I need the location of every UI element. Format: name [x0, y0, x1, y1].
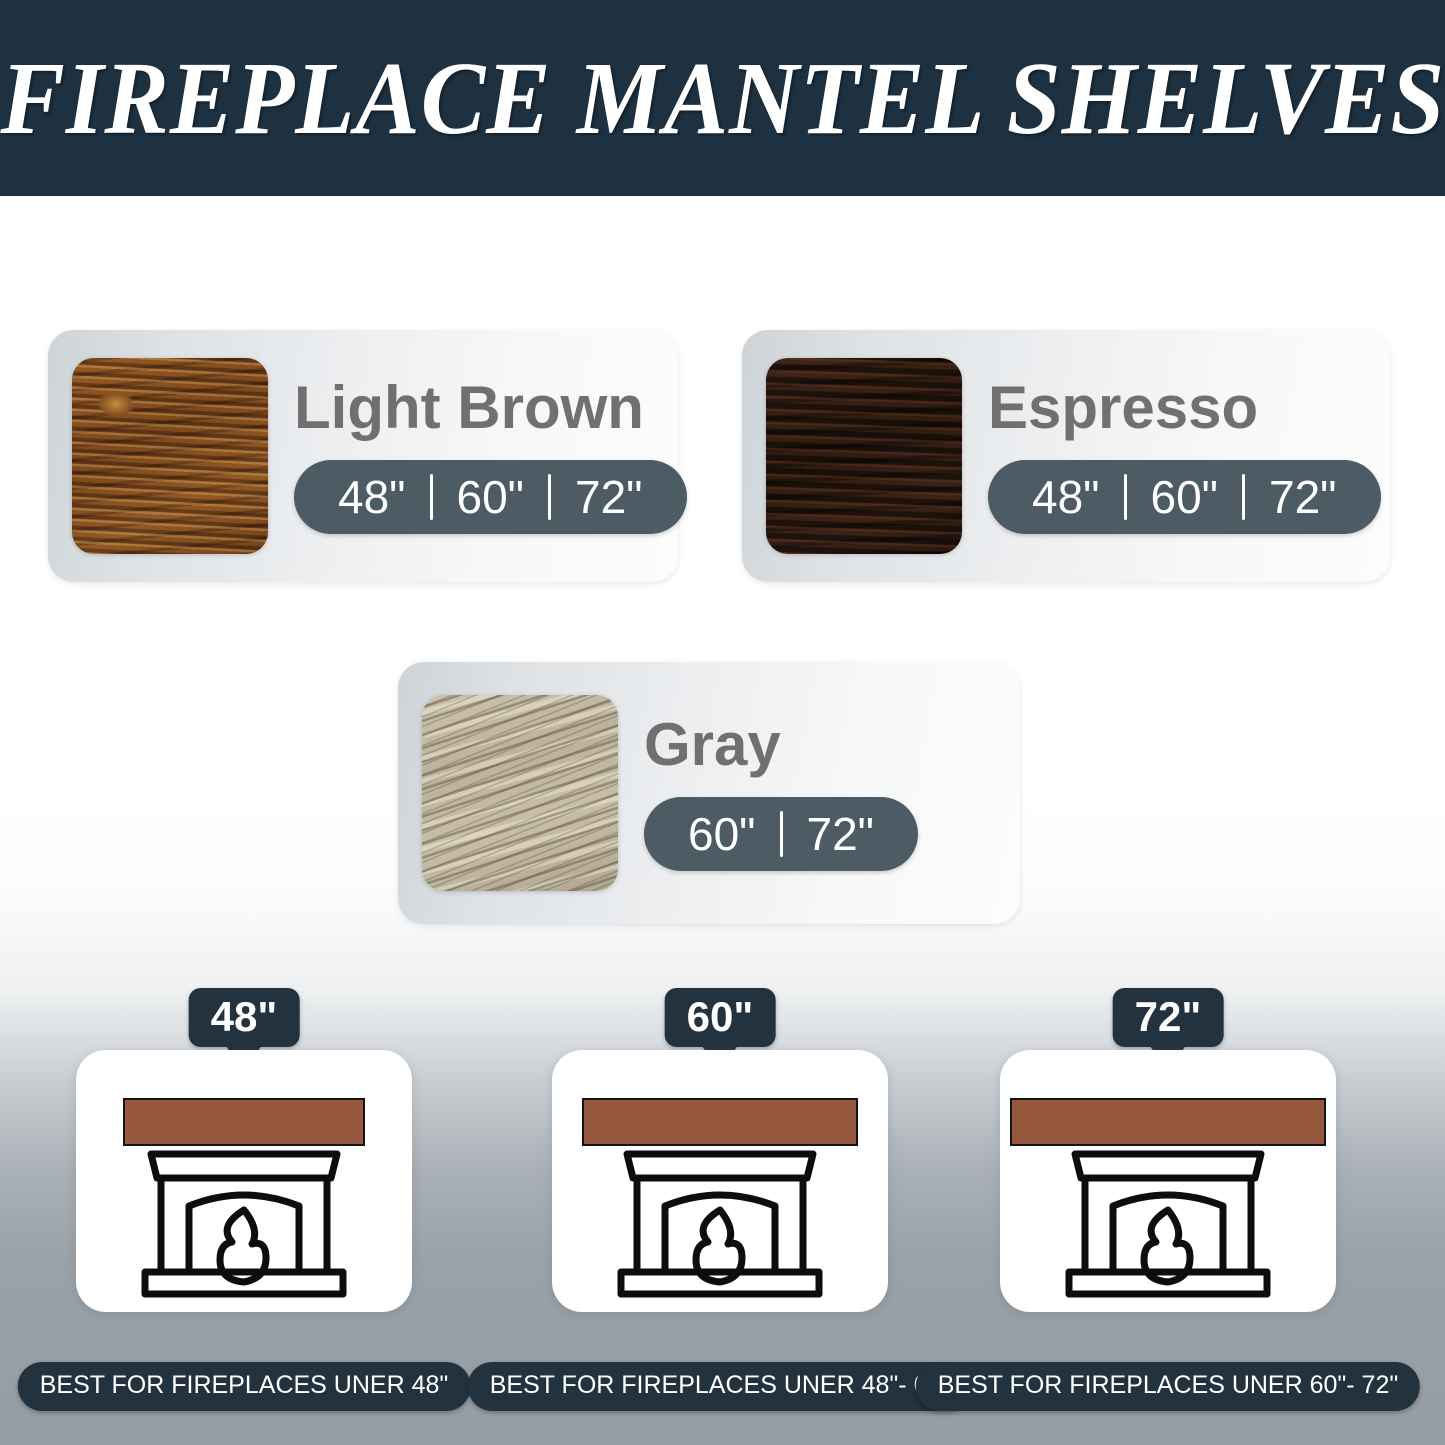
size-options-pill[interactable]: 60" 72" — [644, 797, 918, 871]
finish-name-label: Gray — [644, 715, 918, 775]
finish-card-body: Gray 60" 72" — [644, 715, 918, 871]
mantel-shelf-bar — [123, 1098, 365, 1146]
separator-icon — [1242, 474, 1245, 520]
infographic-page: FIREPLACE MANTEL SHELVES Light Brown 48"… — [0, 0, 1445, 1445]
separator-icon — [430, 474, 433, 520]
size-badge: 60" — [665, 988, 776, 1047]
finish-card-gray[interactable]: Gray 60" 72" — [398, 662, 1020, 924]
page-title: FIREPLACE MANTEL SHELVES — [0, 39, 1445, 158]
fireplace-icon — [613, 1148, 827, 1300]
fireplace-icon-card[interactable] — [1000, 1050, 1336, 1312]
size-option: 48" — [1018, 470, 1114, 524]
size-option: 72" — [793, 807, 889, 861]
size-option: 60" — [674, 807, 770, 861]
size-guide-item-72[interactable]: 72" BEST FOR FIREPLACES UNER 60"- 72" — [1000, 1050, 1336, 1312]
mantel-shelf-bar — [582, 1098, 858, 1146]
header-banner: FIREPLACE MANTEL SHELVES — [0, 0, 1445, 196]
size-option: 60" — [1137, 470, 1233, 524]
fireplace-icon — [137, 1148, 351, 1300]
light-brown-wood-swatch — [72, 358, 268, 554]
size-guide-caption: BEST FOR FIREPLACES UNER 48" — [18, 1362, 471, 1411]
size-guide-item-60[interactable]: 60" BEST FOR FIREPLACES UNER 48"- 60" — [552, 1050, 888, 1312]
separator-icon — [780, 811, 783, 857]
fireplace-icon-card[interactable] — [76, 1050, 412, 1312]
espresso-wood-swatch — [766, 358, 962, 554]
size-options-pill[interactable]: 48" 60" 72" — [294, 460, 687, 534]
size-guide-caption: BEST FOR FIREPLACES UNER 60"- 72" — [916, 1362, 1420, 1411]
finish-card-body: Espresso 48" 60" 72" — [988, 378, 1381, 534]
separator-icon — [548, 474, 551, 520]
finish-card-light-brown[interactable]: Light Brown 48" 60" 72" — [48, 330, 678, 582]
fireplace-icon-card[interactable] — [552, 1050, 888, 1312]
size-options-pill[interactable]: 48" 60" 72" — [988, 460, 1381, 534]
mantel-shelf-bar — [1010, 1098, 1326, 1146]
size-badge: 72" — [1113, 988, 1224, 1047]
finish-name-label: Light Brown — [294, 378, 687, 438]
size-guide-caption: BEST FOR FIREPLACES UNER 48"- 60" — [468, 1362, 972, 1411]
size-option: 60" — [443, 470, 539, 524]
finish-card-body: Light Brown 48" 60" 72" — [294, 378, 687, 534]
size-option: 48" — [324, 470, 420, 524]
fireplace-icon — [1061, 1148, 1275, 1300]
size-option: 72" — [1255, 470, 1351, 524]
gray-wood-swatch — [422, 695, 618, 891]
size-option: 72" — [561, 470, 657, 524]
size-guide-item-48[interactable]: 48" BEST FOR FIREPLACES UNER 48" — [76, 1050, 412, 1312]
size-badge: 48" — [189, 988, 300, 1047]
finish-card-espresso[interactable]: Espresso 48" 60" 72" — [742, 330, 1390, 582]
separator-icon — [1124, 474, 1127, 520]
finish-name-label: Espresso — [988, 378, 1381, 438]
